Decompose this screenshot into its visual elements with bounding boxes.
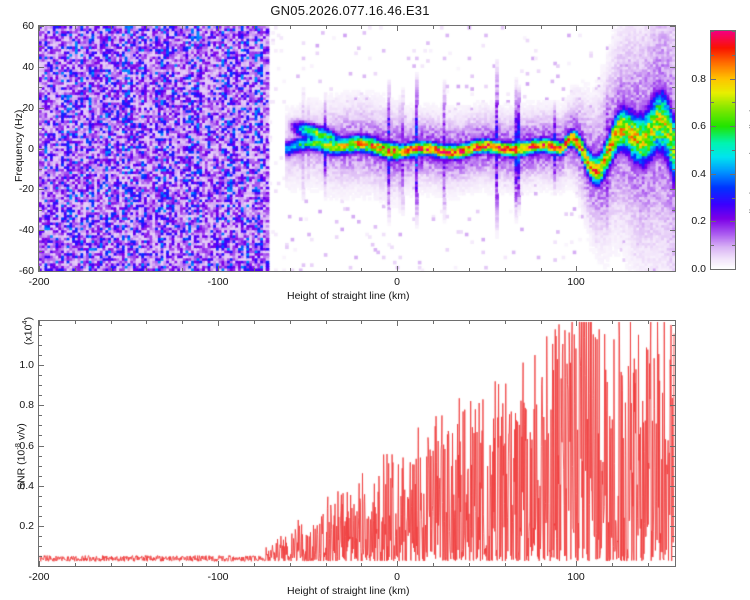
axis-tick	[732, 102, 735, 103]
axis-tick	[672, 425, 675, 426]
axis-tick	[672, 335, 675, 336]
snr-ylabel-tail: v/v)	[16, 423, 28, 443]
xtick-label: 100	[567, 276, 585, 288]
axis-tick	[672, 435, 675, 436]
ytick-label: 1.0	[8, 359, 34, 371]
ytick-label: 0.2	[8, 520, 34, 532]
axis-tick	[254, 563, 255, 566]
axis-tick	[39, 476, 42, 477]
axis-tick	[361, 321, 362, 324]
axis-tick	[397, 561, 398, 566]
axis-tick	[39, 365, 44, 366]
axis-tick	[326, 321, 327, 324]
axis-tick	[670, 189, 675, 190]
axis-tick	[361, 268, 362, 271]
axis-tick	[39, 251, 42, 252]
axis-tick	[39, 546, 42, 547]
snr-panel	[38, 320, 676, 567]
axis-tick	[672, 169, 675, 170]
axis-tick	[39, 395, 42, 396]
xtick-label: 0	[394, 276, 400, 288]
axis-tick	[111, 563, 112, 566]
axis-tick	[730, 174, 735, 175]
axis-tick	[541, 26, 542, 29]
axis-tick	[326, 563, 327, 566]
axis-tick	[146, 268, 147, 271]
axis-tick	[711, 31, 714, 32]
axis-tick	[672, 325, 675, 326]
axis-tick	[39, 67, 44, 68]
axis-tick	[711, 102, 714, 103]
axis-tick	[672, 355, 675, 356]
axis-tick	[732, 198, 735, 199]
axis-tick	[75, 321, 76, 324]
axis-tick	[218, 321, 219, 326]
axis-tick	[672, 516, 675, 517]
axis-tick	[361, 26, 362, 29]
spectrogram-canvas	[39, 26, 675, 271]
axis-tick	[433, 268, 434, 271]
axis-tick	[732, 150, 735, 151]
axis-tick	[39, 556, 42, 557]
axis-tick	[648, 563, 649, 566]
axis-tick	[576, 561, 577, 566]
axis-tick	[254, 321, 255, 324]
axis-tick	[672, 46, 675, 47]
axis-tick	[39, 149, 44, 150]
axis-tick	[670, 271, 675, 272]
axis-tick	[39, 415, 42, 416]
xtick-label: 100	[567, 571, 585, 583]
axis-tick	[670, 67, 675, 68]
axis-tick	[576, 321, 577, 326]
xtick-label: -100	[207, 276, 228, 288]
axis-tick	[39, 335, 42, 336]
axis-tick	[730, 269, 735, 270]
axis-tick	[711, 79, 716, 80]
axis-tick	[670, 446, 675, 447]
axis-tick	[672, 536, 675, 537]
axis-tick	[111, 321, 112, 324]
axis-tick	[505, 268, 506, 271]
axis-tick	[397, 321, 398, 326]
axis-tick	[433, 563, 434, 566]
axis-tick	[254, 26, 255, 29]
axis-tick	[146, 321, 147, 324]
axis-tick	[39, 405, 44, 406]
axis-tick	[672, 251, 675, 252]
snr-multiplier-tail: )	[23, 317, 35, 321]
axis-tick	[39, 506, 42, 507]
axis-tick	[612, 563, 613, 566]
axis-tick	[469, 563, 470, 566]
axis-tick	[39, 189, 44, 190]
axis-tick	[39, 108, 44, 109]
axis-tick	[711, 174, 716, 175]
axis-tick	[39, 566, 42, 567]
axis-tick	[75, 563, 76, 566]
axis-tick	[39, 486, 44, 487]
axis-tick	[670, 149, 675, 150]
axis-tick	[39, 375, 42, 376]
axis-tick	[612, 321, 613, 324]
snr-ylabel: SNR (10-8 v/v)	[13, 423, 28, 490]
axis-tick	[39, 385, 42, 386]
axis-tick	[39, 526, 44, 527]
ytick-label: 0.8	[8, 399, 34, 411]
axis-tick	[670, 526, 675, 527]
axis-tick	[111, 268, 112, 271]
axis-tick	[397, 26, 398, 31]
axis-tick	[39, 496, 42, 497]
axis-tick	[290, 268, 291, 271]
colorbar-tick-label: 0.6	[684, 120, 706, 132]
axis-tick	[290, 563, 291, 566]
axis-tick	[505, 321, 506, 324]
axis-tick	[732, 245, 735, 246]
snr-canvas	[39, 321, 675, 566]
axis-tick	[505, 563, 506, 566]
ytick-label: -60	[8, 265, 34, 277]
axis-tick	[711, 245, 714, 246]
axis-tick	[39, 425, 42, 426]
axis-tick	[672, 566, 675, 567]
axis-tick	[146, 563, 147, 566]
axis-tick	[39, 128, 42, 129]
axis-tick	[730, 126, 735, 127]
axis-tick	[672, 546, 675, 547]
axis-tick	[672, 506, 675, 507]
axis-tick	[39, 536, 42, 537]
axis-tick	[39, 355, 42, 356]
axis-tick	[670, 108, 675, 109]
axis-tick	[711, 150, 714, 151]
axis-tick	[39, 26, 44, 27]
axis-tick	[433, 321, 434, 324]
axis-tick	[576, 266, 577, 271]
axis-tick	[182, 321, 183, 324]
axis-tick	[672, 456, 675, 457]
axis-tick	[290, 321, 291, 324]
axis-tick	[670, 230, 675, 231]
xtick-label: -100	[207, 571, 228, 583]
spectrogram-xlabel: Height of straight line (km)	[287, 290, 410, 302]
spectrogram-ylabel: Frequency (Hz)	[13, 110, 25, 182]
axis-tick	[146, 26, 147, 29]
axis-tick	[672, 395, 675, 396]
axis-tick	[39, 345, 42, 346]
axis-tick	[397, 266, 398, 271]
axis-tick	[670, 405, 675, 406]
xtick-label: 0	[394, 571, 400, 583]
ytick-label: 60	[8, 20, 34, 32]
axis-tick	[39, 435, 42, 436]
axis-tick	[218, 26, 219, 31]
axis-tick	[612, 26, 613, 29]
axis-tick	[711, 269, 716, 270]
colorbar-tick-label: 0.2	[684, 215, 706, 227]
axis-tick	[672, 385, 675, 386]
axis-tick	[670, 365, 675, 366]
axis-tick	[39, 210, 42, 211]
xtick-label: -200	[28, 276, 49, 288]
axis-tick	[469, 268, 470, 271]
axis-tick	[290, 26, 291, 29]
axis-tick	[254, 268, 255, 271]
axis-tick	[541, 268, 542, 271]
axis-tick	[711, 198, 714, 199]
snr-ylabel-exponent: -8	[13, 443, 22, 450]
axis-tick	[182, 26, 183, 29]
axis-tick	[730, 221, 735, 222]
colorbar-tick-label: 0.4	[684, 168, 706, 180]
axis-tick	[75, 26, 76, 29]
axis-tick	[732, 31, 735, 32]
axis-tick	[182, 268, 183, 271]
axis-tick	[39, 230, 44, 231]
snr-xlabel: Height of straight line (km)	[287, 585, 410, 597]
axis-tick	[75, 268, 76, 271]
axis-tick	[218, 266, 219, 271]
axis-tick	[541, 563, 542, 566]
axis-tick	[505, 26, 506, 29]
axis-tick	[39, 456, 42, 457]
axis-tick	[326, 268, 327, 271]
colorbar-tick-label: 0.8	[684, 73, 706, 85]
axis-tick	[672, 375, 675, 376]
axis-tick	[39, 169, 42, 170]
axis-tick	[39, 446, 44, 447]
snr-multiplier-base: (x10	[23, 325, 35, 345]
axis-tick	[672, 128, 675, 129]
axis-tick	[541, 321, 542, 324]
spectrogram-panel	[38, 25, 676, 272]
axis-tick	[39, 87, 42, 88]
snr-multiplier: (x104)	[20, 317, 35, 345]
axis-tick	[326, 26, 327, 29]
axis-tick	[672, 87, 675, 88]
axis-tick	[39, 325, 42, 326]
colorbar-tick-label: 0.0	[684, 263, 706, 275]
axis-tick	[672, 466, 675, 467]
ytick-label: -40	[8, 224, 34, 236]
axis-tick	[648, 321, 649, 324]
axis-tick	[648, 26, 649, 29]
axis-tick	[39, 271, 44, 272]
ytick-label: 40	[8, 61, 34, 73]
axis-tick	[612, 268, 613, 271]
axis-tick	[730, 79, 735, 80]
axis-tick	[711, 126, 716, 127]
axis-tick	[732, 55, 735, 56]
snr-multiplier-exponent: 4	[20, 320, 29, 324]
axis-tick	[711, 221, 716, 222]
axis-tick	[39, 466, 42, 467]
figure-root: GN05.2026.077.16.46.E31 -200-1000100-60-…	[0, 0, 750, 600]
axis-tick	[433, 26, 434, 29]
axis-tick	[218, 561, 219, 566]
axis-tick	[672, 556, 675, 557]
axis-tick	[576, 26, 577, 31]
ytick-label: -20	[8, 183, 34, 195]
axis-tick	[672, 496, 675, 497]
axis-tick	[111, 26, 112, 29]
axis-tick	[182, 563, 183, 566]
axis-tick	[672, 415, 675, 416]
xtick-label: -200	[28, 571, 49, 583]
axis-tick	[361, 563, 362, 566]
axis-tick	[711, 55, 714, 56]
figure-title: GN05.2026.077.16.46.E31	[0, 3, 700, 18]
axis-tick	[648, 268, 649, 271]
axis-tick	[672, 476, 675, 477]
axis-tick	[39, 516, 42, 517]
axis-tick	[672, 345, 675, 346]
axis-tick	[469, 321, 470, 324]
axis-tick	[670, 26, 675, 27]
axis-tick	[670, 486, 675, 487]
axis-tick	[469, 26, 470, 29]
axis-tick	[672, 210, 675, 211]
axis-tick	[39, 46, 42, 47]
snr-ylabel-base: SNR (10	[16, 450, 28, 490]
